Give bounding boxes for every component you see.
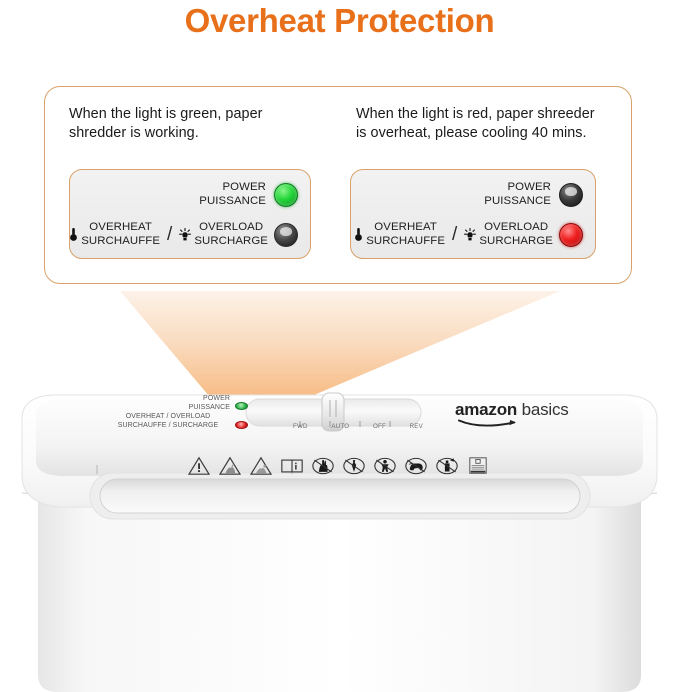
product-power-label: POWER PUISSANCE xyxy=(189,395,230,412)
product-overload-en: OVERLOAD xyxy=(171,413,211,420)
brand-amazon: amazon xyxy=(455,400,517,419)
power-label-green: POWER PUISSANCE xyxy=(199,181,266,208)
product-overload-fr: SURCHARGE xyxy=(173,422,219,429)
no-pets-icon xyxy=(405,456,427,476)
read-manual-icon xyxy=(281,456,303,476)
product-overload-led xyxy=(235,421,248,429)
switch-label-auto[interactable]: AUTO xyxy=(331,423,349,430)
overheat-overload-row-green: OVERHEAT SURCHAUFFE / xyxy=(78,221,298,248)
overload-label-en: OVERLOAD xyxy=(199,221,263,233)
product-power-fr: PUISSANCE xyxy=(189,404,230,411)
product-control-panel: POWER PUISSANCE OVERHEAT / OVERLOAD SURC… xyxy=(88,395,258,435)
product-overheat-en: OVERHEAT xyxy=(126,413,165,420)
caption-green-line2: shredder is working. xyxy=(69,125,199,141)
overheat-label-green: OVERHEAT SURCHAUFFE xyxy=(81,221,160,248)
switch-label-off[interactable]: OFF xyxy=(373,423,386,430)
switch-label-fwd[interactable]: FWD xyxy=(293,423,308,430)
paper-feed-slot xyxy=(100,479,580,513)
callout-box: When the light is green, paper shredder … xyxy=(44,86,632,284)
overload-led-red-panel xyxy=(559,223,583,247)
overload-group-red: OVERLOAD SURCHARGE xyxy=(464,221,553,248)
caption-green-line1: When the light is green, paper xyxy=(69,106,263,122)
overheat-label-en-red: OVERHEAT xyxy=(374,221,437,233)
product-overheat-overload-label: OVERHEAT / OVERLOAD SURCHAUFFE / SURCHAR… xyxy=(88,413,248,430)
label-separator-green: / xyxy=(167,228,172,241)
overheat-label-en: OVERHEAT xyxy=(89,221,152,233)
control-panel-red: POWER PUISSANCE OVERHEAT SURCHAUFFE xyxy=(350,169,596,259)
overload-label-en-red: OVERLOAD xyxy=(484,221,548,233)
product-power-led xyxy=(235,402,248,410)
caption-green: When the light is green, paper shredder … xyxy=(69,105,322,143)
shredder-bin-body xyxy=(38,495,641,692)
product-separator-bottom: / xyxy=(169,422,171,429)
caption-red-line1: When the light is red, paper shreeder xyxy=(356,106,595,122)
lamp-rays-icon xyxy=(464,228,476,241)
power-row-red: POWER PUISSANCE xyxy=(484,181,583,208)
overheat-group-green: OVERHEAT SURCHAUFFE xyxy=(69,221,160,248)
power-label-fr: PUISSANCE xyxy=(199,195,266,207)
caption-red-line2: is overheat, please cooling 40 mins. xyxy=(356,125,587,141)
overload-led-green-panel xyxy=(274,223,298,247)
no-necktie-icon xyxy=(343,456,365,476)
power-label-en-red: POWER xyxy=(507,181,551,193)
product-feature-image: Overheat Protection When the light is gr… xyxy=(0,0,679,692)
amazon-smile-icon xyxy=(458,419,528,428)
no-children-icon xyxy=(374,456,396,476)
brand-basics: basics xyxy=(522,400,569,419)
control-panel-green: POWER PUISSANCE OVERHEAT SURCHAUFFE xyxy=(69,169,311,259)
power-led-red-panel xyxy=(559,183,583,207)
overload-label-fr-red: SURCHARGE xyxy=(479,235,553,247)
safety-icon-row xyxy=(188,452,518,480)
overheat-label-red: OVERHEAT SURCHAUFFE xyxy=(366,221,445,248)
overheat-overload-row-red: OVERHEAT SURCHAUFFE / xyxy=(359,221,583,248)
overheat-group-red: OVERHEAT SURCHAUFFE xyxy=(354,221,445,248)
label-separator-red: / xyxy=(452,228,457,241)
power-label-en: POWER xyxy=(222,181,266,193)
product-power-en: POWER xyxy=(203,395,230,402)
brand-logo: amazon basics xyxy=(455,400,569,420)
thermometer-bulb-icon xyxy=(69,228,78,242)
warning-triangle-icon xyxy=(188,456,210,476)
no-aerosol-icon xyxy=(436,456,458,476)
callout-column-red: When the light is red, paper shreeder is… xyxy=(338,87,631,283)
power-label-red: POWER PUISSANCE xyxy=(484,181,551,208)
lamp-rays-icon xyxy=(179,228,191,241)
switch-label-rev[interactable]: REV xyxy=(410,423,423,430)
overheat-label-fr-red: SURCHAUFFE xyxy=(366,235,445,247)
callout-column-green: When the light is green, paper shredder … xyxy=(45,87,338,283)
overload-label-green: OVERLOAD SURCHARGE xyxy=(194,221,268,248)
overheat-label-fr: SURCHAUFFE xyxy=(81,235,160,247)
page-title: Overheat Protection xyxy=(0,0,679,42)
power-switch-labels[interactable]: FWD AUTO OFF REV xyxy=(293,423,423,430)
caption-red: When the light is red, paper shreeder is… xyxy=(356,105,619,143)
thermometer-bulb-icon xyxy=(354,228,363,242)
overload-label-fr: SURCHARGE xyxy=(194,235,268,247)
overload-label-red: OVERLOAD SURCHARGE xyxy=(479,221,553,248)
no-hands-icon xyxy=(312,456,334,476)
product-overheat-fr: SURCHAUFFE xyxy=(118,422,167,429)
product-separator-top: / xyxy=(166,413,168,420)
power-row-green: POWER PUISSANCE xyxy=(199,181,298,208)
warning-triangle-hand-icon xyxy=(219,456,241,476)
overload-group-green: OVERLOAD SURCHARGE xyxy=(179,221,268,248)
power-label-fr-red: PUISSANCE xyxy=(484,195,551,207)
warning-triangle-hand2-icon xyxy=(250,456,272,476)
power-led-green xyxy=(274,183,298,207)
rating-label-icon xyxy=(467,456,489,476)
